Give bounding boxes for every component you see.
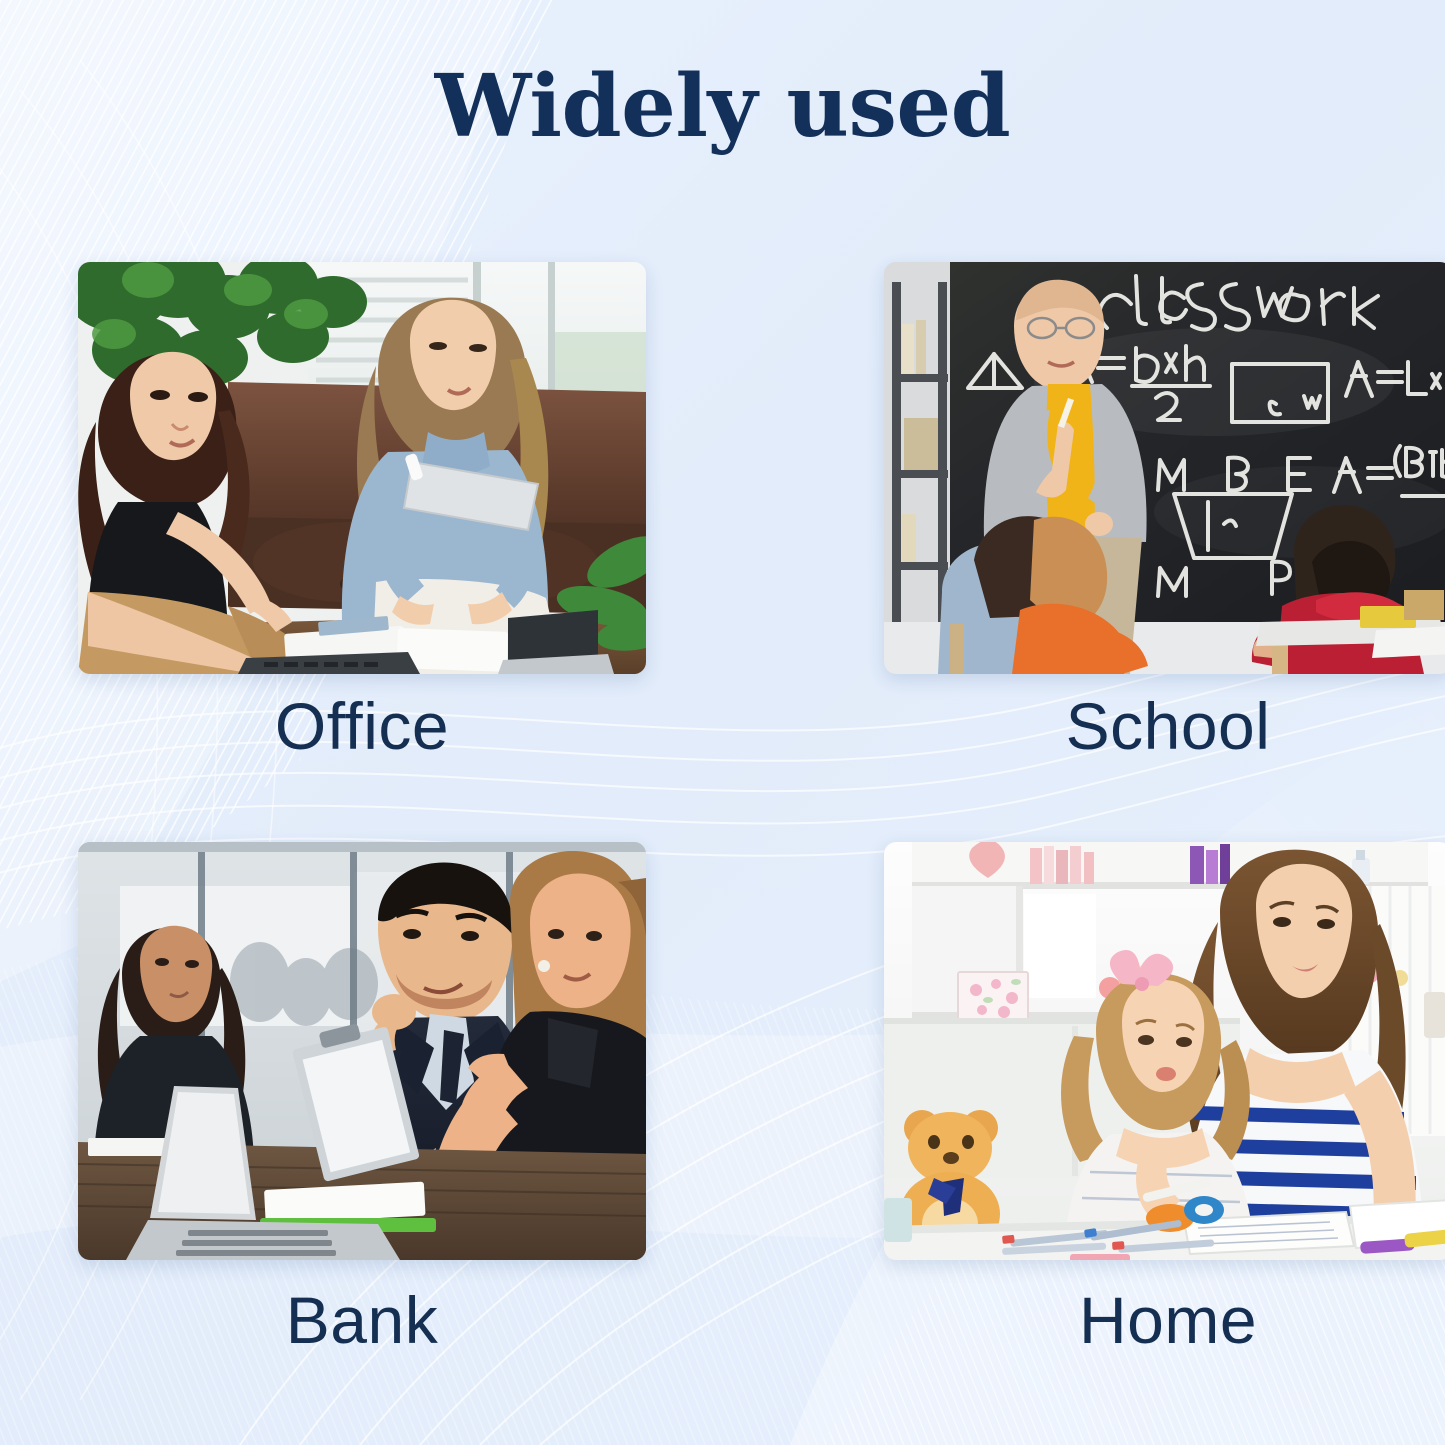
office-photo [78, 262, 646, 674]
caption-school: School [884, 688, 1445, 764]
use-case-card-office: Office [0, 262, 801, 842]
use-case-grid: Office [0, 262, 1445, 1422]
page-title: Widely used [0, 62, 1445, 152]
use-case-card-home: Home [801, 842, 1445, 1422]
caption-office: Office [78, 688, 646, 764]
home-photo [884, 842, 1445, 1260]
caption-home: Home [884, 1282, 1445, 1358]
use-case-card-bank: Bank [0, 842, 801, 1422]
bank-photo [78, 842, 646, 1260]
use-case-card-school: School [801, 262, 1445, 842]
school-photo [884, 262, 1445, 674]
widely-used-infographic: Widely used [0, 0, 1445, 1445]
caption-bank: Bank [78, 1282, 646, 1358]
